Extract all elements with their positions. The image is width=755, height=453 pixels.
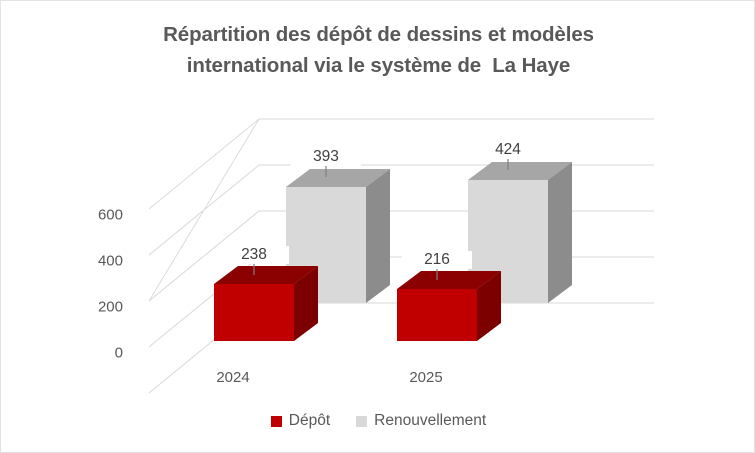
data-label-renouvellement-2024: 393 (291, 148, 361, 166)
legend-label-renouvellement: Renouvellement (374, 412, 486, 430)
x-axis-tick-2024: 2024 (178, 369, 288, 386)
plot-area: 600 400 200 0 2024 2025 238 393 216 424 (1, 1, 755, 453)
legend-item-renouvellement[interactable]: Renouvellement (356, 412, 486, 430)
data-label-depot-2024: 238 (219, 246, 289, 264)
x-axis-tick-2025: 2025 (371, 369, 481, 386)
bar-depot-2024[interactable] (214, 266, 318, 341)
data-label-depot-2025: 216 (402, 251, 472, 269)
bar-depot-2025[interactable] (397, 271, 501, 341)
y-axis-tick-0: 0 (63, 345, 123, 362)
chart-container: Répartition des dépôt de dessins et modè… (0, 0, 755, 453)
y-axis-tick-200: 200 (63, 299, 123, 316)
chart-legend: Dépôt Renouvellement (1, 412, 755, 430)
legend-label-depot: Dépôt (289, 412, 330, 430)
y-axis-tick-600: 600 (63, 207, 123, 224)
legend-swatch-icon-depot (271, 416, 282, 427)
data-label-renouvellement-2025: 424 (473, 141, 543, 159)
legend-item-depot[interactable]: Dépôt (271, 412, 330, 430)
y-axis-tick-400: 400 (63, 253, 123, 270)
legend-swatch-icon-renouvellement (356, 416, 367, 427)
